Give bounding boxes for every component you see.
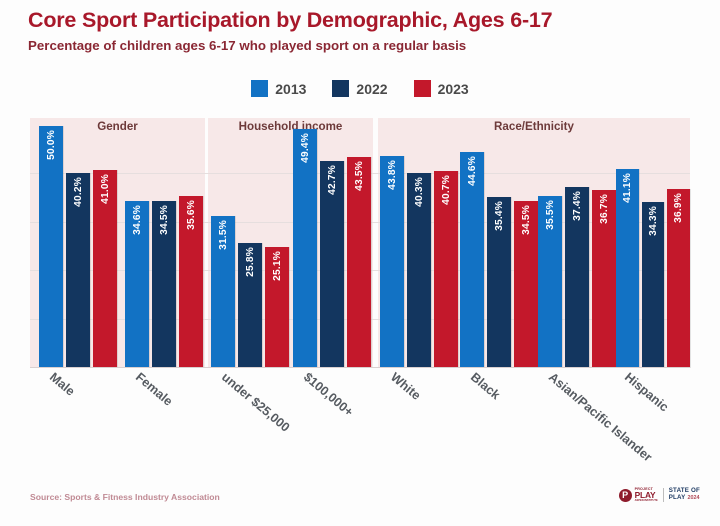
bar-group: 35.5%37.4%36.7% (538, 118, 616, 368)
logo-badge-icon: P (619, 489, 632, 502)
bar[interactable]: 34.6% (125, 201, 149, 368)
x-axis-label: Black (468, 370, 503, 402)
source-note: Source: Sports & Fitness Industry Associ… (30, 492, 220, 502)
bar-value-label: 35.4% (494, 201, 505, 231)
bar[interactable]: 25.1% (265, 247, 289, 368)
bar-group: 34.6%34.5%35.6% (122, 118, 206, 368)
logo-mark: P PROJECT PLAY ASPEN INSTITUTE (619, 488, 658, 503)
project-play-logo: P PROJECT PLAY ASPEN INSTITUTE STATE OF … (619, 485, 700, 505)
bar-value-label: 35.5% (545, 200, 556, 230)
x-axis-label: White (388, 370, 423, 403)
bar-value-label: 42.7% (327, 165, 338, 195)
bar[interactable]: 50.0% (39, 126, 63, 368)
bar[interactable]: 36.9% (667, 189, 690, 368)
bar[interactable]: 42.7% (320, 161, 344, 368)
bar-value-label: 34.3% (648, 206, 659, 236)
bar-cluster: 34.6%34.5%35.6% (122, 118, 206, 368)
bar[interactable]: 35.6% (179, 196, 203, 368)
bar-group: 50.0%40.2%41.0% (36, 118, 120, 368)
bar-value-label: 41.1% (622, 173, 633, 203)
bar-cluster: 44.6%35.4%34.5% (460, 118, 538, 368)
bar[interactable]: 44.6% (460, 152, 484, 368)
bar-value-label: 37.4% (572, 191, 583, 221)
bar[interactable]: 34.5% (152, 201, 176, 368)
bar-value-label: 41.0% (100, 174, 111, 204)
bar[interactable]: 43.5% (347, 157, 371, 368)
play-text: PLAY (669, 495, 686, 502)
bar[interactable]: 35.4% (487, 197, 511, 368)
bar-groups: 50.0%40.2%41.0%34.6%34.5%35.6%31.5%25.8%… (30, 118, 690, 368)
x-axis-label: Hispanic (622, 370, 671, 414)
legend-item-2022[interactable]: 2022 (332, 80, 387, 97)
bar[interactable]: 35.5% (538, 196, 562, 368)
bar-value-label: 50.0% (46, 130, 57, 160)
bar-cluster: 43.8%40.3%40.7% (380, 118, 458, 368)
logo-divider (663, 488, 664, 502)
bar-cluster: 31.5%25.8%25.1% (210, 118, 290, 368)
play-year-row: PLAY 2024 (669, 495, 700, 502)
bar[interactable]: 34.3% (642, 202, 665, 368)
legend-label-2022: 2022 (356, 81, 387, 97)
bar-cluster: 35.5%37.4%36.7% (538, 118, 616, 368)
bar[interactable]: 36.7% (592, 190, 616, 368)
legend-label-2023: 2023 (438, 81, 469, 97)
bar-value-label: 40.2% (73, 177, 84, 207)
legend-swatch-2013 (251, 80, 268, 97)
bar-value-label: 43.8% (387, 160, 398, 190)
bar[interactable]: 40.7% (434, 171, 458, 368)
legend-item-2013[interactable]: 2013 (251, 80, 306, 97)
bar-value-label: 34.5% (159, 205, 170, 235)
bar-group: 49.4%42.7%43.5% (292, 118, 372, 368)
logo-wordmark: PROJECT PLAY ASPEN INSTITUTE (635, 488, 658, 503)
bar-value-label: 36.9% (673, 193, 684, 223)
bar-value-label: 40.3% (414, 177, 425, 207)
state-of-play-wordmark: STATE OF PLAY 2024 (669, 488, 700, 502)
bar[interactable]: 41.0% (93, 170, 117, 368)
legend-swatch-2022 (332, 80, 349, 97)
chart-title: Core Sport Participation by Demographic,… (28, 8, 552, 33)
bar-group: 31.5%25.8%25.1% (210, 118, 290, 368)
x-axis-label: under $25,000 (219, 370, 292, 435)
bar[interactable]: 31.5% (211, 216, 235, 368)
bar-group: 44.6%35.4%34.5% (460, 118, 538, 368)
axis-baseline (30, 367, 690, 368)
bar-value-label: 36.7% (599, 194, 610, 224)
bar-value-label: 43.5% (354, 161, 365, 191)
bar[interactable]: 43.8% (380, 156, 404, 368)
chart-page: Core Sport Participation by Demographic,… (0, 0, 720, 526)
bar[interactable]: 25.8% (238, 243, 262, 368)
bar-value-label: 34.6% (132, 205, 143, 235)
x-axis-label: Male (47, 370, 77, 399)
bar-value-label: 49.4% (300, 133, 311, 163)
bar-value-label: 44.6% (467, 156, 478, 186)
bar[interactable]: 34.5% (514, 201, 538, 368)
bar-value-label: 34.5% (521, 205, 532, 235)
bar-value-label: 40.7% (441, 175, 452, 205)
plot-area: GenderHousehold incomeRace/Ethnicity 50.… (30, 118, 690, 368)
bar[interactable]: 37.4% (565, 187, 589, 368)
legend-item-2023[interactable]: 2023 (414, 80, 469, 97)
bar[interactable]: 41.1% (616, 169, 639, 368)
x-axis-label: $100,000+ (301, 370, 356, 419)
bar-value-label: 35.6% (186, 200, 197, 230)
logo-institute-text: ASPEN INSTITUTE (635, 500, 658, 503)
chart-subtitle: Percentage of children ages 6-17 who pla… (28, 38, 466, 53)
bar-group: 41.1%34.3%36.9% (616, 118, 690, 368)
legend-swatch-2023 (414, 80, 431, 97)
bar-cluster: 49.4%42.7%43.5% (292, 118, 372, 368)
bar[interactable]: 40.2% (66, 173, 90, 368)
bar-value-label: 31.5% (218, 220, 229, 250)
bar[interactable]: 40.3% (407, 173, 431, 368)
legend-label-2013: 2013 (275, 81, 306, 97)
x-axis-labels: MaleFemaleunder $25,000$100,000+WhiteBla… (30, 370, 690, 490)
bar-group: 43.8%40.3%40.7% (380, 118, 458, 368)
bar-cluster: 50.0%40.2%41.0% (36, 118, 120, 368)
bar-cluster: 41.1%34.3%36.9% (616, 118, 690, 368)
bar-value-label: 25.8% (245, 247, 256, 277)
bar[interactable]: 49.4% (293, 129, 317, 368)
bar-value-label: 25.1% (272, 251, 283, 281)
chart-legend: 201320222023 (0, 80, 720, 97)
x-axis-label: Female (133, 370, 175, 409)
report-year: 2024 (687, 495, 699, 501)
